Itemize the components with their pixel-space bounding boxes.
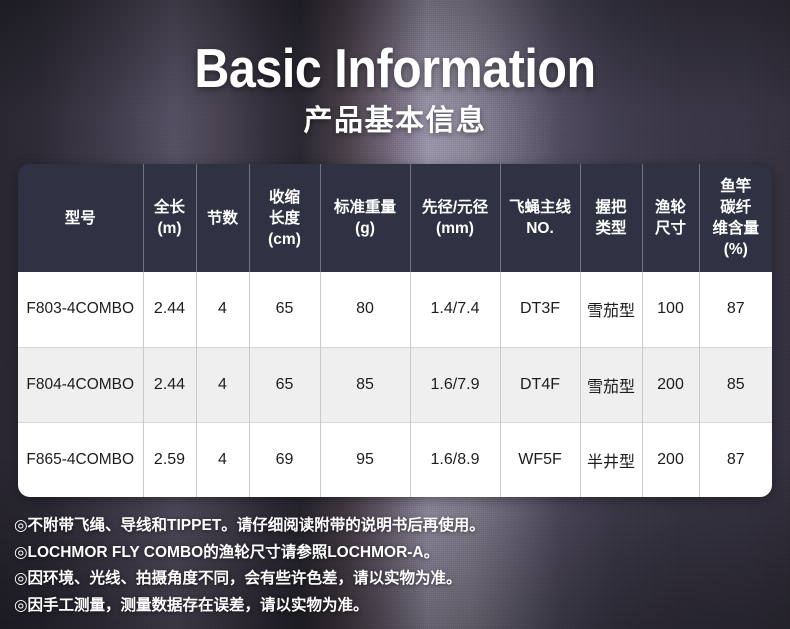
cell-grip-type: 雪茄型 <box>580 347 642 422</box>
table-row: F865-4COMBO 2.59 4 69 95 1.6/8.9 WF5F 半井… <box>18 422 772 497</box>
cell-length: 2.59 <box>143 422 196 497</box>
column-header-grip-type: 握把类型 <box>580 164 642 272</box>
cell-collapsed: 65 <box>249 347 320 422</box>
column-header-reel-size: 渔轮尺寸 <box>642 164 699 272</box>
cell-carbon-pct: 85 <box>699 347 772 422</box>
notes-list: ◎不附带飞绳、导线和TIPPET。请仔细阅读附带的说明书后再使用。 ◎LOCHM… <box>14 513 790 619</box>
cell-fly-line-no: WF5F <box>500 422 580 497</box>
cell-tip-butt: 1.6/8.9 <box>410 422 500 497</box>
column-header-carbon-pct: 鱼竿碳纤维含量(%) <box>699 164 772 272</box>
cell-grip-type: 半井型 <box>580 422 642 497</box>
page-subtitle: 产品基本信息 <box>0 104 790 138</box>
cell-tip-butt: 1.6/7.9 <box>410 347 500 422</box>
cell-length: 2.44 <box>143 272 196 347</box>
cell-model: F804-4COMBO <box>18 347 143 422</box>
cell-sections: 4 <box>196 347 249 422</box>
note-item: ◎LOCHMOR FLY COMBO的渔轮尺寸请参照LOCHMOR-A。 <box>14 540 790 567</box>
cell-carbon-pct: 87 <box>699 272 772 347</box>
spec-table-head: 型号 全长(m) 节数 收缩长度(cm) 标准重量(g) 先径/元径(mm) 飞… <box>18 164 772 272</box>
cell-model: F803-4COMBO <box>18 272 143 347</box>
product-spec-banner: Basic Information 产品基本信息 型号 全长(m) 节数 收缩长… <box>0 0 790 629</box>
column-header-collapsed: 收缩长度(cm) <box>249 164 320 272</box>
note-item: ◎因手工测量，测量数据存在误差，请以实物为准。 <box>14 593 790 620</box>
cell-collapsed: 69 <box>249 422 320 497</box>
cell-carbon-pct: 87 <box>699 422 772 497</box>
column-header-tip-butt: 先径/元径(mm) <box>410 164 500 272</box>
page-title: Basic Information <box>47 38 742 98</box>
cell-tip-butt: 1.4/7.4 <box>410 272 500 347</box>
cell-fly-line-no: DT3F <box>500 272 580 347</box>
cell-reel-size: 200 <box>642 422 699 497</box>
column-header-fly-line-no: 飞蝇主线NO. <box>500 164 580 272</box>
cell-sections: 4 <box>196 272 249 347</box>
table-row: F804-4COMBO 2.44 4 65 85 1.6/7.9 DT4F 雪茄… <box>18 347 772 422</box>
spec-table-body: F803-4COMBO 2.44 4 65 80 1.4/7.4 DT3F 雪茄… <box>18 272 772 497</box>
cell-length: 2.44 <box>143 347 196 422</box>
cell-weight: 95 <box>320 422 410 497</box>
cell-reel-size: 100 <box>642 272 699 347</box>
banner-header: Basic Information 产品基本信息 <box>0 0 790 138</box>
table-header-row: 型号 全长(m) 节数 收缩长度(cm) 标准重量(g) 先径/元径(mm) 飞… <box>18 164 772 272</box>
cell-fly-line-no: DT4F <box>500 347 580 422</box>
table-row: F803-4COMBO 2.44 4 65 80 1.4/7.4 DT3F 雪茄… <box>18 272 772 347</box>
note-item: ◎因环境、光线、拍摄角度不同，会有些许色差，请以实物为准。 <box>14 566 790 593</box>
note-item: ◎不附带飞绳、导线和TIPPET。请仔细阅读附带的说明书后再使用。 <box>14 513 790 540</box>
cell-weight: 85 <box>320 347 410 422</box>
cell-weight: 80 <box>320 272 410 347</box>
cell-grip-type: 雪茄型 <box>580 272 642 347</box>
column-header-weight: 标准重量(g) <box>320 164 410 272</box>
column-header-model: 型号 <box>18 164 143 272</box>
cell-collapsed: 65 <box>249 272 320 347</box>
cell-reel-size: 200 <box>642 347 699 422</box>
spec-table: 型号 全长(m) 节数 收缩长度(cm) 标准重量(g) 先径/元径(mm) 飞… <box>18 164 772 497</box>
cell-sections: 4 <box>196 422 249 497</box>
column-header-length: 全长(m) <box>143 164 196 272</box>
spec-table-container: 型号 全长(m) 节数 收缩长度(cm) 标准重量(g) 先径/元径(mm) 飞… <box>18 164 772 497</box>
column-header-sections: 节数 <box>196 164 249 272</box>
cell-model: F865-4COMBO <box>18 422 143 497</box>
